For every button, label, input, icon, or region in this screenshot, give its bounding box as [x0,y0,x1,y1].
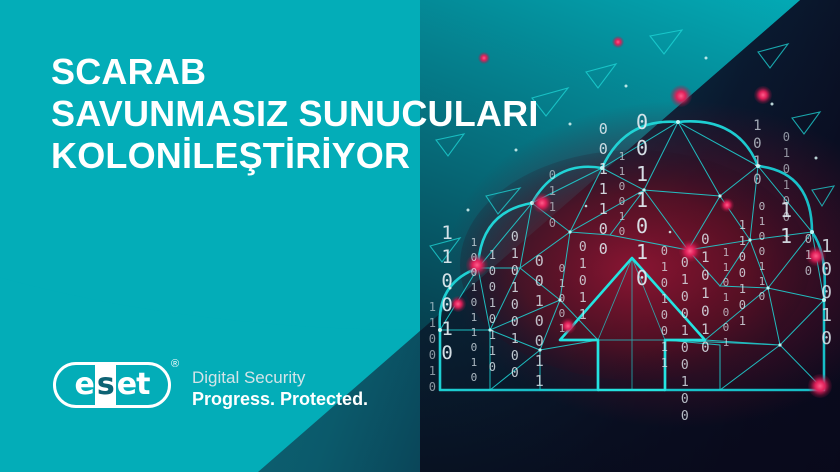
eset-letter-e2: e [117,370,136,400]
registered-trademark-icon: ® [171,359,179,370]
eset-letter-t: t [136,370,149,400]
eset-logomark: e s e t [53,362,171,408]
tagline-line-2: Progress. Protected. [192,389,368,410]
page-title: SCARAB SAVUNMASIZ SUNUCULARI KOLONİLEŞTİ… [51,51,539,176]
eset-logomark-wrap: e s e t ® [53,362,178,408]
eset-tagline: Digital Security Progress. Protected. [192,362,368,410]
eset-promo-banner: 110010 1001011010 10010110 010100100 001… [0,0,840,472]
eset-letter-s-inverted: s [95,365,116,405]
tagline-line-1: Digital Security [192,368,368,388]
eset-letter-e1: e [75,370,94,400]
eset-letters: e s e t [75,365,150,405]
eset-logo-block: e s e t ® Digital Security Progress. Pro… [53,362,368,410]
